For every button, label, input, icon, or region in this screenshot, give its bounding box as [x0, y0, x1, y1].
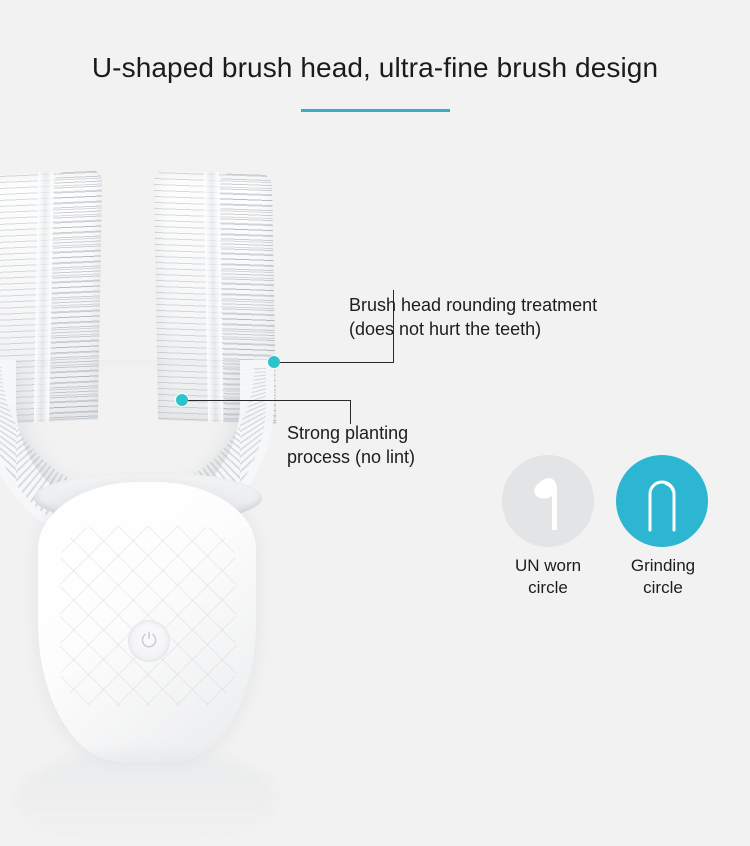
rounded-bristle-icon [639, 470, 685, 532]
bristle-comparison-group: UN worn circle Grinding circle [495, 455, 725, 605]
badge-un-worn-circle [502, 455, 594, 547]
callout-leader-rounding-horizontal [280, 362, 394, 363]
surface-reflection [18, 750, 276, 846]
callout-label-rounding: Brush head rounding treatment (does not … [349, 294, 597, 342]
callout-rounding-line2: (does not hurt the teeth) [349, 318, 597, 342]
callout-planting-line2: process (no lint) [287, 446, 415, 470]
power-button-icon: ⏻ [128, 620, 170, 662]
badge-label-grinding: Grinding circle [610, 555, 716, 599]
handle-grip-texture [60, 526, 236, 706]
badge-un-worn-line1: UN worn [495, 555, 601, 577]
badge-grinding-line2: circle [610, 577, 716, 599]
badge-un-worn-line2: circle [495, 577, 601, 599]
badge-label-un-worn: UN worn circle [495, 555, 601, 599]
callout-dot-rounding [268, 356, 280, 368]
page-title: U-shaped brush head, ultra-fine brush de… [0, 52, 750, 84]
callout-label-planting: Strong planting process (no lint) [287, 422, 415, 470]
callout-dot-planting [176, 394, 188, 406]
callout-rounding-line1: Brush head rounding treatment [349, 294, 597, 318]
badge-grinding-line1: Grinding [610, 555, 716, 577]
worn-bristle-icon [525, 470, 571, 532]
callout-planting-line1: Strong planting [287, 422, 415, 446]
callout-leader-planting-vertical [350, 400, 351, 424]
infographic-page: U-shaped brush head, ultra-fine brush de… [0, 0, 750, 750]
callout-leader-planting-horizontal [188, 400, 351, 401]
badge-grinding-circle [616, 455, 708, 547]
title-accent-rule [301, 109, 450, 112]
